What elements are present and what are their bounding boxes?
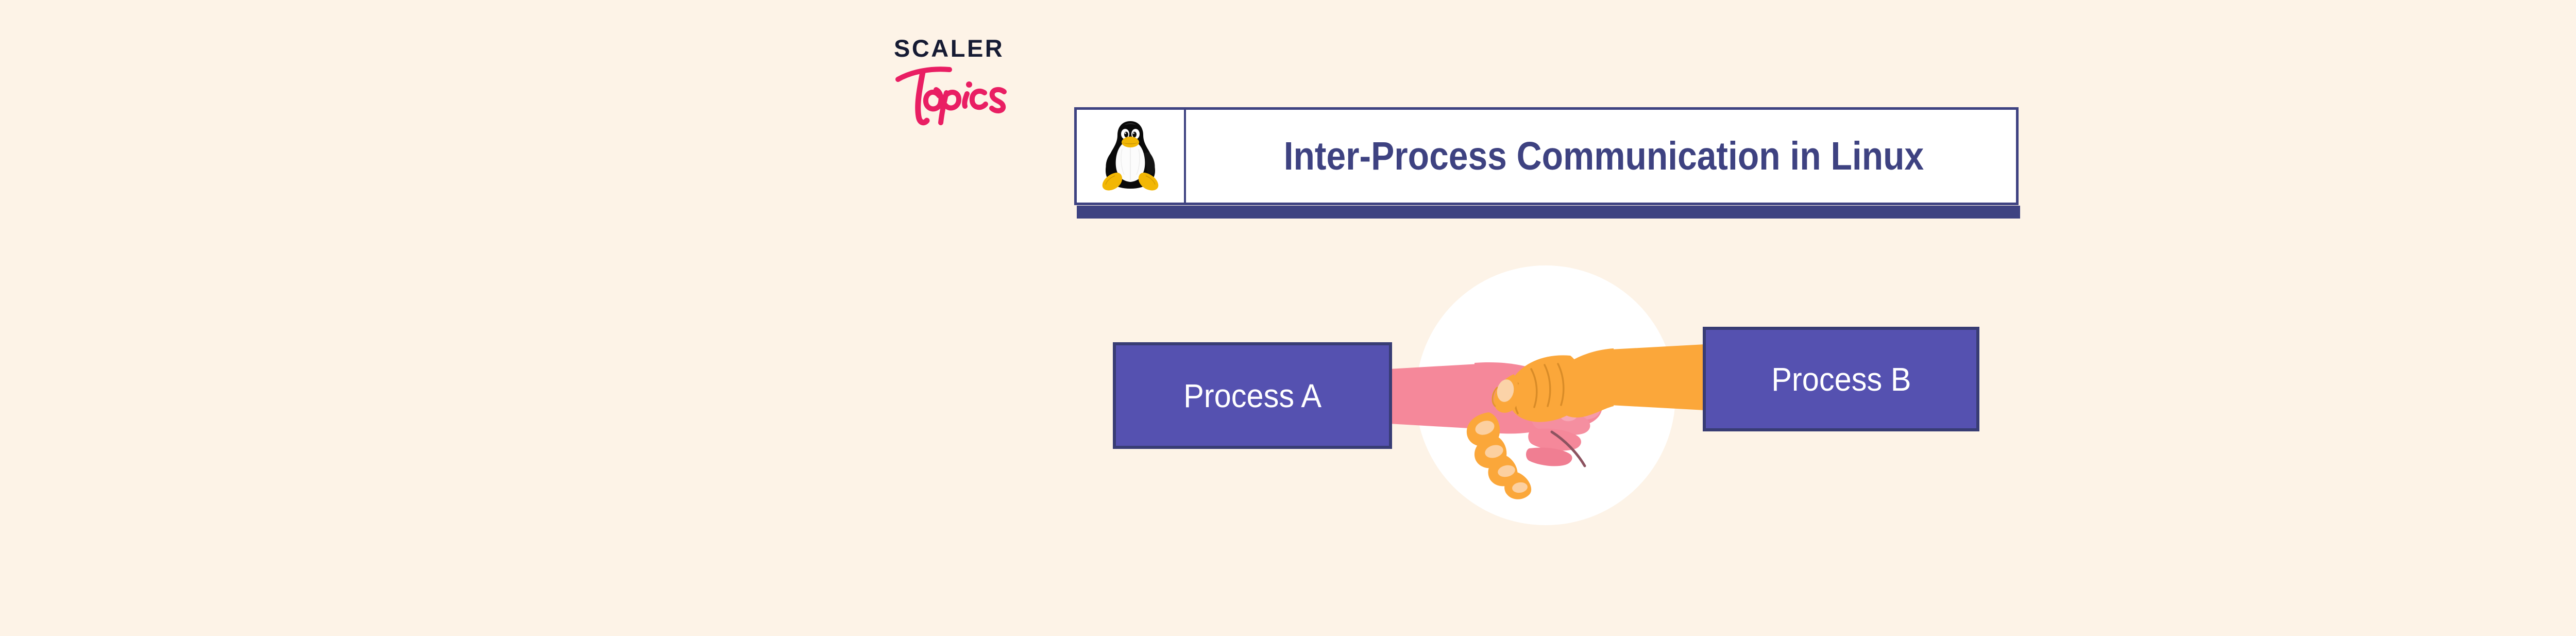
banner-logo-cell <box>1077 110 1186 203</box>
process-a-box[interactable]: Process A <box>1113 342 1392 449</box>
ipc-diagram: Process A Process B <box>1082 258 2009 546</box>
title-banner: Inter-Process Communication in Linux <box>1074 107 2019 205</box>
linux-tux-penguin-icon <box>1099 118 1161 194</box>
page-canvas: SCALER <box>0 0 2576 636</box>
process-a-label: Process A <box>1183 379 1321 412</box>
banner-bottom-bar <box>1077 206 2020 219</box>
process-b-box[interactable]: Process B <box>1703 327 1979 431</box>
banner-title-cell: Inter-Process Communication in Linux <box>1186 110 2016 203</box>
page-title: Inter-Process Communication in Linux <box>1283 137 1923 176</box>
brand-script-topics-icon <box>892 59 1021 126</box>
scaler-topics-logo: SCALER <box>894 36 1033 144</box>
brand-wordmark-text: SCALER <box>894 36 1004 60</box>
process-b-label: Process B <box>1771 363 1911 396</box>
